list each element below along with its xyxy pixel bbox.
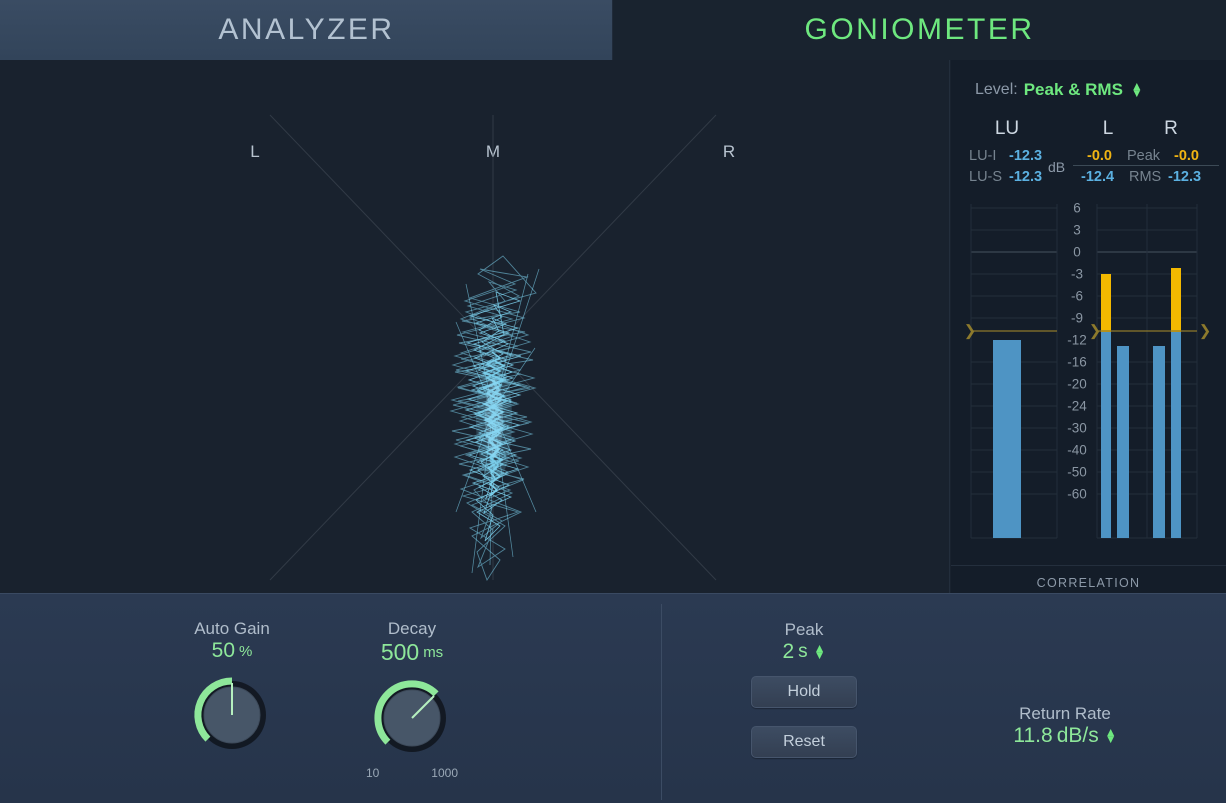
meter-tick-m12: -12 — [1067, 333, 1087, 348]
meter-tick-6: 6 — [1073, 201, 1081, 216]
meter-tick-3: 3 — [1073, 223, 1081, 238]
readout-peak-l: -0.0 — [1087, 148, 1112, 164]
meter-tick-m24: -24 — [1067, 399, 1087, 414]
readout-lu-i-label: LU-I — [969, 148, 996, 164]
goniometer-axes — [270, 115, 716, 580]
control-return-rate: Return Rate 11.8 dB/s ▲▼ — [975, 704, 1155, 748]
level-meter-panel: Level: Peak & RMS ▲▼ LU L R LU-I -12.3 L… — [951, 60, 1226, 593]
decay-unit: ms — [423, 644, 443, 661]
peak-unit: s — [798, 641, 808, 663]
reset-button-label: Reset — [783, 733, 825, 751]
meter-graph-svg — [969, 194, 1209, 552]
decay-value: 500 — [381, 639, 419, 666]
panel-divider — [951, 565, 1226, 566]
decay-max-label: 1000 — [431, 766, 458, 780]
level-selector-label: Level: — [975, 81, 1018, 99]
level-selector-value: Peak & RMS — [1024, 80, 1123, 100]
level-readouts: LU L R LU-I -12.3 LU-S -12.3 dB -0.0 Pea… — [969, 118, 1219, 193]
target-arrow-left-icon[interactable]: ❯ — [964, 324, 977, 339]
return-rate-value-row[interactable]: 11.8 dB/s ▲▼ — [975, 724, 1155, 748]
plugin-window: ANALYZER GONIOMETER L M R — [0, 0, 1226, 803]
control-decay: Decay 500 ms 10 1000 — [350, 619, 474, 780]
decay-value-row[interactable]: 500 ms — [350, 639, 474, 666]
hold-button-label: Hold — [788, 683, 821, 701]
target-arrow-right-icon[interactable]: ❯ — [1089, 324, 1102, 339]
readout-rms-label: RMS — [1129, 169, 1161, 185]
readout-lu-i-value: -12.3 — [1009, 148, 1042, 164]
target-arrow-far-icon[interactable]: ❯ — [1199, 324, 1212, 339]
meter-bar-rms2-r — [1153, 346, 1165, 538]
control-panel: Auto Gain 50 % Decay 500 ms — [0, 593, 1226, 803]
goniometer-canvas — [0, 60, 950, 593]
meter-tick-0: 0 — [1073, 245, 1081, 260]
meter-tick-m16: -16 — [1067, 355, 1087, 370]
return-rate-label: Return Rate — [975, 704, 1155, 724]
meter-tick-m50: -50 — [1067, 465, 1087, 480]
readout-lu-s-value: -12.3 — [1009, 169, 1042, 185]
return-rate-stepper-icon[interactable]: ▲▼ — [1105, 729, 1117, 743]
meter-bar-rms-r — [1171, 332, 1181, 538]
meter-tick-m6: -6 — [1071, 289, 1083, 304]
auto-gain-knob[interactable] — [188, 669, 276, 757]
decay-label: Decay — [350, 619, 474, 639]
meter-tick-m9: -9 — [1071, 311, 1083, 326]
level-selector[interactable]: Level: Peak & RMS ▲▼ — [975, 80, 1143, 100]
peak-stepper-icon[interactable]: ▲▼ — [814, 645, 826, 659]
readout-header-lu: LU — [995, 118, 1019, 140]
decay-range-labels: 10 1000 — [366, 766, 458, 780]
tab-bar: ANALYZER GONIOMETER — [0, 0, 1226, 60]
readout-rms-r: -12.3 — [1168, 169, 1201, 185]
tab-goniometer-label: GONIOMETER — [804, 13, 1034, 47]
tab-analyzer[interactable]: ANALYZER — [0, 0, 613, 60]
meter-tick-m60: -60 — [1067, 487, 1087, 502]
readout-header-r: R — [1164, 118, 1178, 140]
goniometer-core-glow-inner — [485, 378, 503, 458]
readout-peak-r: -0.0 — [1174, 148, 1199, 164]
level-selector-stepper-icon[interactable]: ▲▼ — [1131, 83, 1143, 97]
return-rate-value: 11.8 — [1013, 724, 1052, 748]
hold-button[interactable]: Hold — [751, 676, 857, 708]
goniometer-scope[interactable]: L M R — [0, 60, 950, 593]
peak-value: 2 — [782, 640, 794, 664]
meter-graph[interactable]: 6 3 0 -3 -6 -9 -12 -16 -20 -24 -30 -40 -… — [969, 194, 1209, 552]
decay-min-label: 10 — [366, 766, 379, 780]
control-peak: Peak 2 s ▲▼ Hold Reset — [742, 620, 866, 758]
meter-tick-m40: -40 — [1067, 443, 1087, 458]
decay-knob[interactable] — [368, 672, 456, 760]
correlation-title: CORRELATION — [951, 576, 1226, 590]
auto-gain-knob-svg — [188, 669, 276, 757]
peak-label: Peak — [742, 620, 866, 640]
readout-header-l: L — [1103, 118, 1114, 140]
decay-knob-svg — [368, 672, 456, 760]
meter-bar-rms2-l — [1117, 346, 1129, 538]
return-rate-unit: dB/s — [1057, 724, 1099, 748]
meter-tick-m20: -20 — [1067, 377, 1087, 392]
readout-db-label: dB — [1048, 159, 1065, 175]
control-panel-divider — [661, 604, 662, 800]
peak-value-row[interactable]: 2 s ▲▼ — [742, 640, 866, 664]
control-auto-gain: Auto Gain 50 % — [170, 619, 294, 757]
auto-gain-value: 50 — [212, 639, 235, 663]
tab-goniometer[interactable]: GONIOMETER — [613, 0, 1226, 60]
reset-button[interactable]: Reset — [751, 726, 857, 758]
readout-lu-s-label: LU-S — [969, 169, 1002, 185]
meter-tick-m30: -30 — [1067, 421, 1087, 436]
meter-bar-rms-l — [1101, 332, 1111, 538]
readout-peak-label: Peak — [1127, 148, 1160, 164]
main-display: L M R — [0, 60, 1226, 593]
tab-analyzer-label: ANALYZER — [218, 13, 394, 47]
readout-rms-l: -12.4 — [1081, 169, 1114, 185]
auto-gain-value-row[interactable]: 50 % — [170, 639, 294, 663]
meter-tick-m3: -3 — [1071, 267, 1083, 282]
auto-gain-unit: % — [239, 643, 252, 660]
meter-bar-lu — [993, 340, 1021, 538]
readout-divider — [1073, 165, 1219, 166]
auto-gain-label: Auto Gain — [170, 619, 294, 639]
